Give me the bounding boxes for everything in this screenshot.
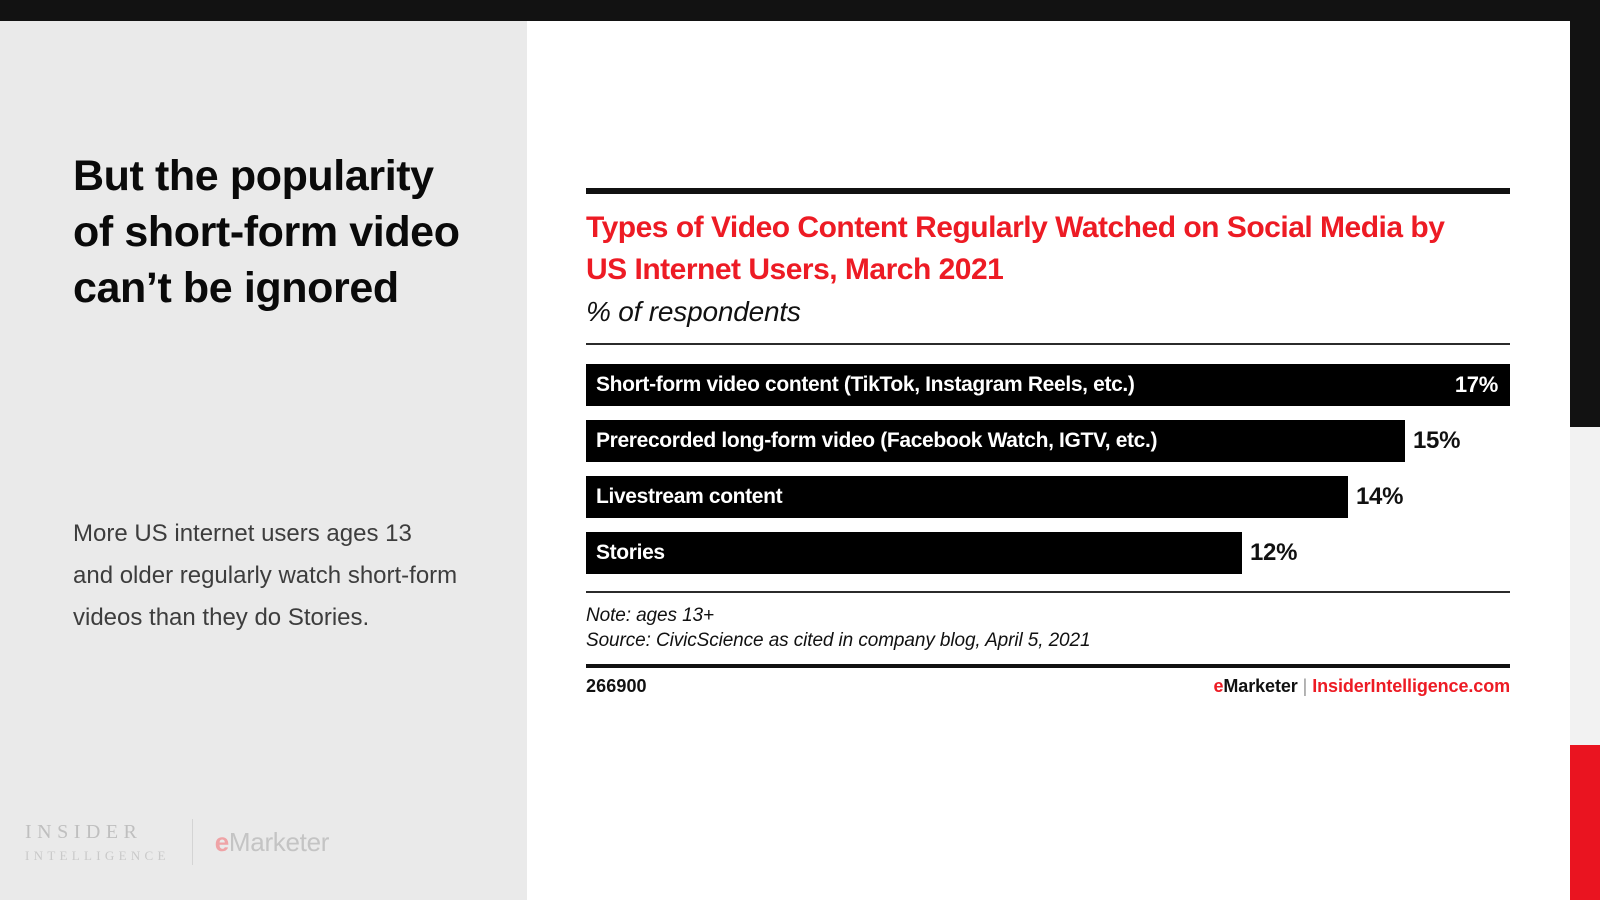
chart-header-rule	[586, 343, 1510, 345]
chart-top-rule	[586, 188, 1510, 194]
chart-note: Note: ages 13+	[586, 603, 1510, 628]
footer-pipe-divider: |	[1298, 676, 1313, 696]
chart-title: Types of Video Content Regularly Watched…	[586, 207, 1466, 291]
footer-emarketer-word: Marketer	[1223, 676, 1297, 696]
logo-divider	[192, 819, 193, 865]
left-panel: But the popularity of short-form video c…	[0, 21, 527, 900]
footer-site-link[interactable]: InsiderIntelligence.com	[1312, 676, 1510, 696]
slide-headline: But the popularity of short-form video c…	[73, 148, 473, 316]
insider-logo-line2: INTELLIGENCE	[25, 849, 170, 862]
right-frame-bar-red	[1570, 745, 1600, 900]
bar-label: Stories	[596, 541, 665, 565]
bar-livestream-content[interactable]: Livestream content	[586, 476, 1348, 518]
insider-intelligence-logo: INSIDER INTELLIGENCE	[25, 822, 170, 862]
bar-value: 14%	[1356, 483, 1403, 511]
bar-value: 15%	[1413, 427, 1460, 455]
bar-prerecorded-long-form-video[interactable]: Prerecorded long-form video (Facebook Wa…	[586, 420, 1405, 462]
bar-row: Prerecorded long-form video (Facebook Wa…	[586, 420, 1510, 462]
slide-canvas: But the popularity of short-form video c…	[0, 0, 1600, 900]
right-frame-bar-dark	[1570, 0, 1600, 427]
chart-source: Source: CivicScience as cited in company…	[586, 628, 1510, 653]
bar-chart-plot: Short-form video content (TikTok, Instag…	[586, 364, 1510, 574]
chart-footer-rule-wrap	[586, 664, 1510, 668]
brand-logo-lockup: INSIDER INTELLIGENCE eMarketer	[25, 819, 329, 865]
chart-card: Types of Video Content Regularly Watched…	[586, 188, 1510, 697]
chart-notes-block: Note: ages 13+ Source: CivicScience as c…	[586, 591, 1510, 653]
chart-footer: 266900 eMarketer|InsiderIntelligence.com	[586, 676, 1510, 697]
bar-short-form-video[interactable]: Short-form video content (TikTok, Instag…	[586, 364, 1510, 406]
bar-label: Short-form video content (TikTok, Instag…	[596, 373, 1135, 397]
chart-subtitle: % of respondents	[586, 295, 1510, 329]
footer-brand-lockup: eMarketer|InsiderIntelligence.com	[1213, 676, 1510, 697]
emarketer-logo-word: Marketer	[229, 827, 329, 857]
bar-label: Livestream content	[596, 485, 782, 509]
right-frame-bar-gray	[1570, 427, 1600, 745]
chart-id: 266900	[586, 676, 647, 697]
emarketer-logo-e: e	[215, 827, 229, 857]
bar-row: Short-form video content (TikTok, Instag…	[586, 364, 1510, 406]
slide-body-text: More US internet users ages 13 and older…	[73, 513, 458, 639]
footer-emarketer-e: e	[1213, 676, 1223, 696]
insider-logo-line1: INSIDER	[25, 822, 170, 842]
chart-footer-rule	[586, 664, 1510, 668]
bar-row: Stories 12%	[586, 532, 1510, 574]
top-frame-bar	[0, 0, 1600, 21]
bar-label: Prerecorded long-form video (Facebook Wa…	[596, 429, 1157, 453]
bar-value: 17%	[1455, 372, 1498, 398]
emarketer-logo: eMarketer	[215, 829, 329, 855]
bar-row: Livestream content 14%	[586, 476, 1510, 518]
bar-value: 12%	[1250, 539, 1297, 567]
bar-stories[interactable]: Stories	[586, 532, 1242, 574]
